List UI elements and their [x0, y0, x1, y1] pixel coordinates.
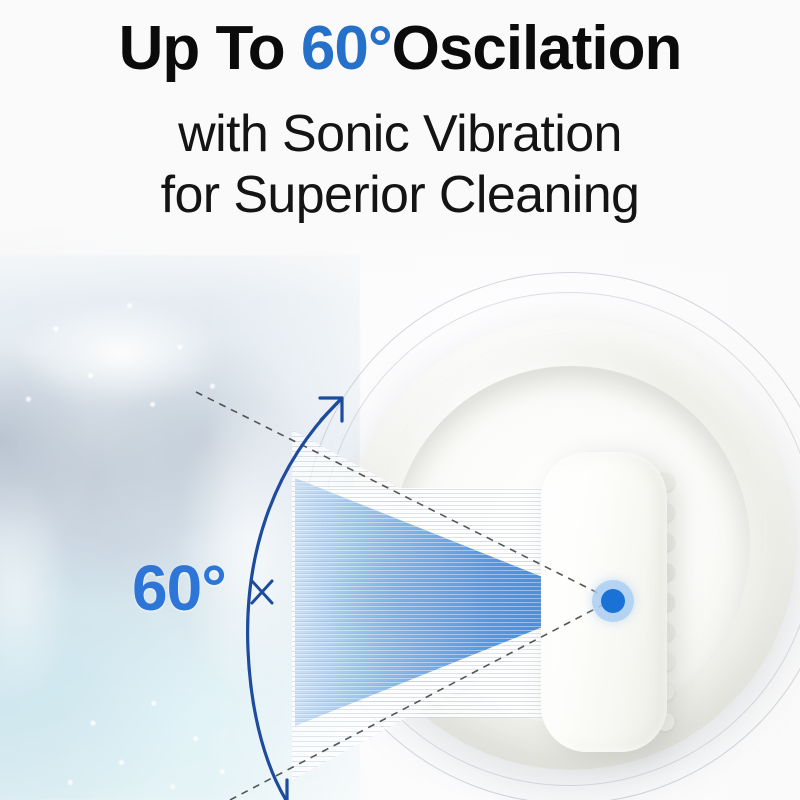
product-feature-graphic: 60° Up To 60°Oscilation with Sonic Vibra…	[0, 0, 800, 800]
page-subtitle: with Sonic Vibration for Superior Cleani…	[0, 104, 800, 227]
sweep-arrow-head	[320, 398, 342, 421]
dashed-angle-boundary-lower	[230, 600, 612, 800]
headline-suffix: Oscilation	[392, 14, 682, 83]
headline-prefix: Up To	[119, 14, 301, 83]
angle-tick-x-icon	[252, 581, 272, 603]
subtitle-line-2: for Superior Cleaning	[0, 165, 800, 226]
dashed-angle-boundary-upper	[196, 392, 612, 600]
sweep-arc	[248, 402, 338, 800]
angle-label-60-degrees: 60°	[132, 551, 226, 625]
headline-accent-60-degrees: 60°	[301, 14, 392, 83]
oscillation-pivot-dot	[601, 589, 625, 613]
subtitle-line-1: with Sonic Vibration	[0, 104, 800, 165]
page-title: Up To 60°Oscilation	[0, 16, 800, 82]
